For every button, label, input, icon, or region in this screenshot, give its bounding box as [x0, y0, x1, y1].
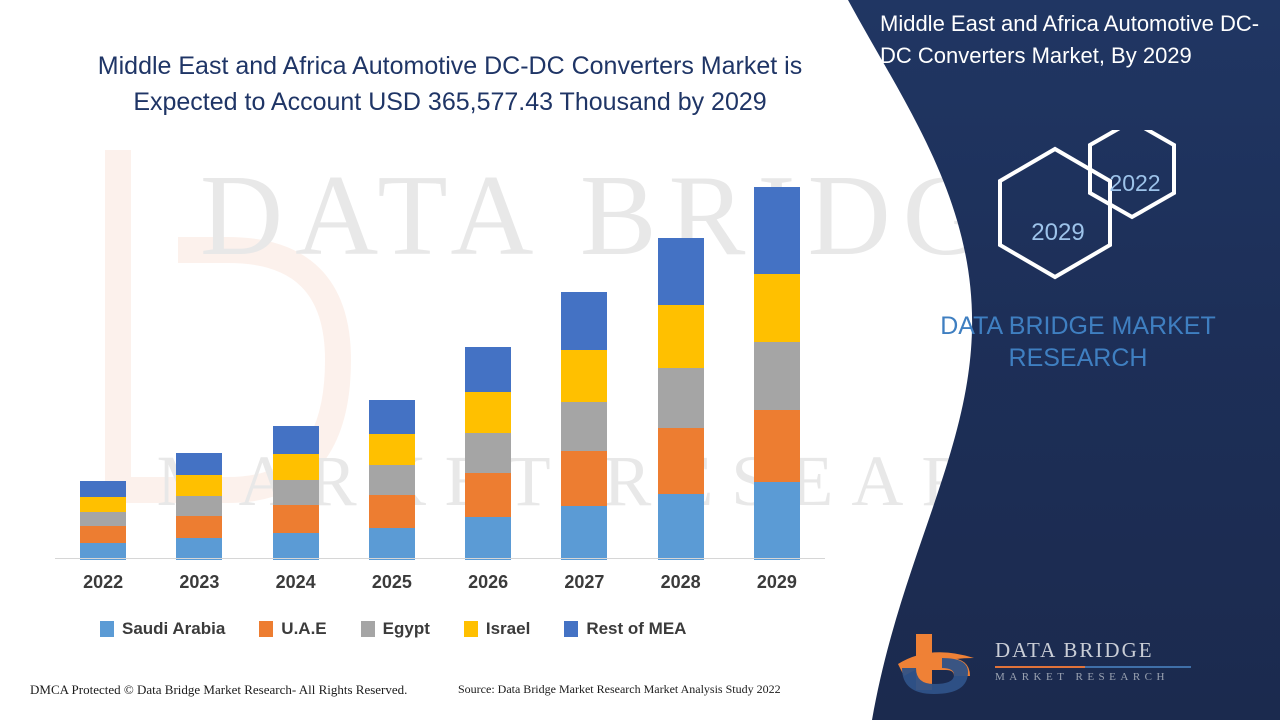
bar-segment[interactable]	[176, 496, 222, 516]
bar-2029[interactable]	[754, 187, 800, 560]
panel-title: Middle East and Africa Automotive DC-DC …	[880, 8, 1276, 72]
bar-segment[interactable]	[369, 434, 415, 465]
legend-item-israel[interactable]: Israel	[464, 619, 530, 639]
bar-segment[interactable]	[754, 187, 800, 274]
brand-line-1: DATA BRIDGE MARKET	[880, 310, 1276, 342]
bar-segment[interactable]	[176, 516, 222, 538]
bar-segment[interactable]	[658, 494, 704, 560]
legend-label: Egypt	[383, 619, 430, 639]
legend-item-egypt[interactable]: Egypt	[361, 619, 430, 639]
legend-swatch-icon	[361, 621, 375, 637]
bar-segment[interactable]	[273, 426, 319, 454]
legend-item-rest-of-mea[interactable]: Rest of MEA	[564, 619, 686, 639]
legend-swatch-icon	[259, 621, 273, 637]
chart-legend: Saudi ArabiaU.A.EEgyptIsraelRest of MEA	[100, 616, 720, 642]
x-axis-label-2024: 2024	[248, 572, 344, 593]
bar-segment[interactable]	[80, 481, 126, 497]
bar-segment[interactable]	[273, 480, 319, 505]
hexagon-2029-label: 2029	[1008, 219, 1108, 247]
bar-segment[interactable]	[754, 410, 800, 482]
bar-segment[interactable]	[465, 347, 511, 392]
bar-segment[interactable]	[658, 238, 704, 305]
hexagon-2022-label: 2022	[1085, 170, 1185, 197]
footer-copyright: DMCA Protected © Data Bridge Market Rese…	[30, 682, 407, 698]
company-logo: DATA BRIDGE MARKET RESEARCH	[890, 628, 1120, 698]
bar-2023[interactable]	[176, 453, 222, 560]
bar-segment[interactable]	[369, 528, 415, 560]
bar-segment[interactable]	[176, 453, 222, 475]
bar-2022[interactable]	[80, 481, 126, 560]
chart-panel: Middle East and Africa Automotive DC-DC …	[0, 0, 880, 720]
bar-segment[interactable]	[754, 342, 800, 410]
bar-2025[interactable]	[369, 400, 415, 560]
logo-wordmark: DATA BRIDGE MARKET RESEARCH	[995, 638, 1205, 683]
bar-segment[interactable]	[369, 400, 415, 434]
bar-segment[interactable]	[273, 533, 319, 560]
bar-segment[interactable]	[561, 350, 607, 402]
right-panel: Middle East and Africa Automotive DC-DC …	[880, 0, 1280, 720]
x-axis-label-2023: 2023	[151, 572, 247, 593]
bar-segment[interactable]	[369, 495, 415, 528]
legend-swatch-icon	[464, 621, 478, 637]
x-axis-label-2025: 2025	[344, 572, 440, 593]
hexagon-2029-icon	[1000, 149, 1110, 277]
bar-segment[interactable]	[273, 454, 319, 480]
bar-2028[interactable]	[658, 238, 704, 560]
legend-label: Rest of MEA	[586, 619, 686, 639]
legend-label: U.A.E	[281, 619, 326, 639]
legend-swatch-icon	[100, 621, 114, 637]
bar-segment[interactable]	[561, 451, 607, 506]
x-axis-line	[55, 558, 825, 559]
bar-segment[interactable]	[273, 505, 319, 533]
x-axis-labels: 20222023202420252026202720282029	[55, 572, 825, 600]
logo-name: DATA BRIDGE	[995, 638, 1205, 663]
legend-item-u-a-e[interactable]: U.A.E	[259, 619, 326, 639]
logo-subtitle: MARKET RESEARCH	[995, 671, 1205, 683]
x-axis-label-2022: 2022	[55, 572, 151, 593]
legend-item-saudi-arabia[interactable]: Saudi Arabia	[100, 619, 225, 639]
legend-label: Saudi Arabia	[122, 619, 225, 639]
logo-divider	[995, 666, 1191, 668]
bar-segment[interactable]	[80, 497, 126, 512]
data-bridge-logo-icon	[890, 628, 990, 696]
brand-line-2: RESEARCH	[880, 342, 1276, 374]
bar-segment[interactable]	[465, 473, 511, 517]
page-title: Middle East and Africa Automotive DC-DC …	[55, 48, 845, 120]
x-axis-label-2026: 2026	[440, 572, 536, 593]
bar-2026[interactable]	[465, 347, 511, 560]
footer-source: Source: Data Bridge Market Research Mark…	[458, 682, 781, 697]
bar-segment[interactable]	[369, 465, 415, 495]
x-axis-label-2028: 2028	[633, 572, 729, 593]
bar-segment[interactable]	[658, 428, 704, 494]
bar-segment[interactable]	[658, 368, 704, 428]
bar-segment[interactable]	[465, 392, 511, 433]
brand-name: DATA BRIDGE MARKET RESEARCH	[880, 310, 1276, 374]
bar-segment[interactable]	[561, 292, 607, 350]
bar-2024[interactable]	[273, 426, 319, 560]
bar-segment[interactable]	[465, 517, 511, 560]
bar-segment[interactable]	[561, 402, 607, 451]
bar-chart-plot-area	[55, 170, 825, 560]
bar-segment[interactable]	[465, 433, 511, 473]
bar-segment[interactable]	[658, 305, 704, 368]
bar-segment[interactable]	[561, 506, 607, 560]
footer: DMCA Protected © Data Bridge Market Rese…	[0, 682, 880, 706]
bar-segment[interactable]	[754, 274, 800, 342]
bar-segment[interactable]	[80, 526, 126, 543]
legend-swatch-icon	[564, 621, 578, 637]
bar-segment[interactable]	[176, 475, 222, 496]
bar-segment[interactable]	[80, 512, 126, 526]
x-axis-label-2029: 2029	[729, 572, 825, 593]
bar-2027[interactable]	[561, 292, 607, 560]
x-axis-label-2027: 2027	[536, 572, 632, 593]
bar-segment[interactable]	[176, 538, 222, 560]
bar-segment[interactable]	[754, 482, 800, 560]
legend-label: Israel	[486, 619, 530, 639]
